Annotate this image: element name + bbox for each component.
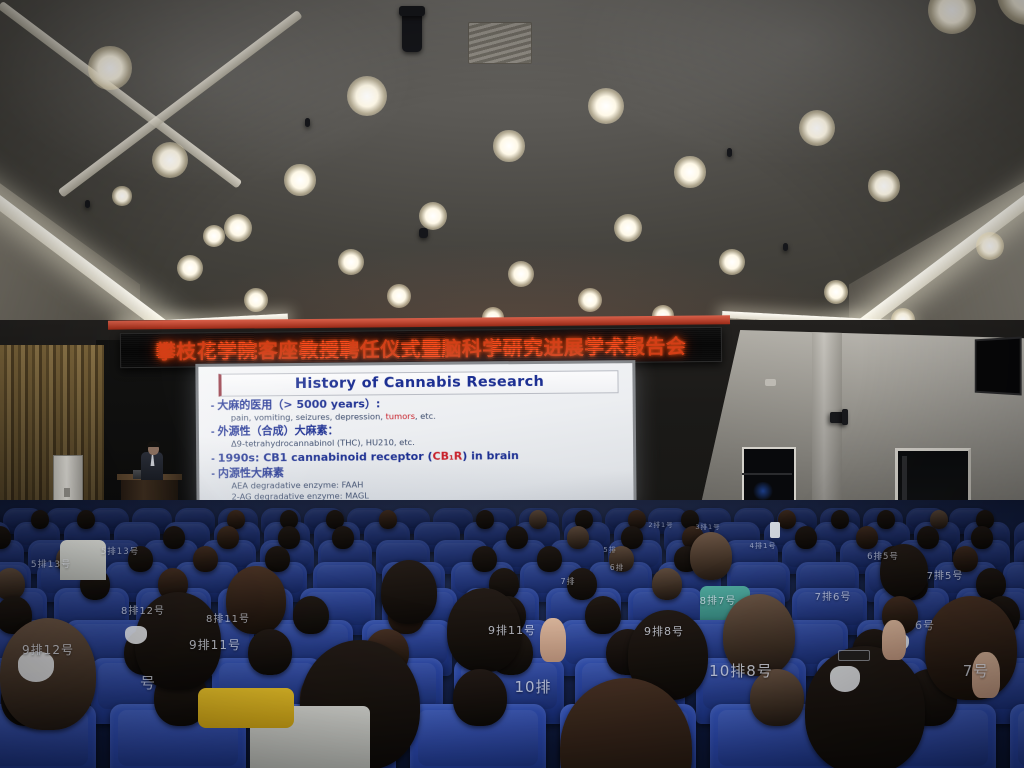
audience-member-head — [621, 526, 643, 549]
audience-member-head — [293, 596, 329, 634]
audience-member-head — [690, 532, 732, 580]
seat-number-label: 7排6号 — [806, 588, 860, 603]
audience-member-head — [805, 646, 925, 768]
audience-member-head — [925, 596, 1017, 700]
audience-member-head — [77, 510, 95, 529]
audience-member-head — [831, 510, 849, 529]
audience-member-head — [476, 510, 494, 529]
downlight-icon — [588, 88, 624, 124]
seat-number-label: 9排11号 — [474, 622, 550, 638]
seat-number-label: 6号 — [905, 617, 945, 633]
audience-member-head — [0, 568, 25, 600]
bullet-dash: - — [211, 426, 215, 438]
wall-monitor-icon — [975, 336, 1022, 395]
bullet-text-red: CB₁R — [432, 449, 462, 462]
downlight-icon — [578, 288, 602, 312]
audience-member-head — [917, 526, 939, 549]
audience-member-head — [778, 510, 796, 529]
seat-number-label: 8排7号 — [688, 592, 748, 607]
downlight-icon — [799, 110, 835, 146]
ac-vent-icon — [468, 22, 532, 64]
ceiling-sensor-b-icon — [727, 148, 732, 157]
audience-member-head — [31, 510, 49, 529]
downlight-icon — [387, 284, 411, 308]
audience-member-head — [585, 596, 621, 634]
audience-member-head — [537, 546, 562, 572]
lecture-hall-photo: 攀枝花学院客座教授聘任仪式暨脑科学研究进展学术报告会 History of Ca… — [0, 0, 1024, 768]
bullet-text: 内源性大麻素 — [218, 467, 284, 480]
seat-number-label: 6排5号 — [857, 550, 909, 562]
seat-number-label: 5排13号 — [20, 557, 82, 570]
audience-member-head — [971, 526, 993, 549]
ceiling-sensor-e-icon — [85, 200, 90, 208]
ceiling-sensor-d-icon — [783, 243, 788, 251]
audience-member-head — [381, 560, 437, 624]
raised-hand — [882, 620, 906, 660]
projection-screen: History of Cannabis Research - 大麻的医用（> 5… — [198, 363, 633, 514]
downlight-icon — [203, 225, 225, 247]
phone-icon — [770, 522, 780, 538]
slide-bullet-1-sub: pain, vomiting, seizures, depression, tu… — [231, 409, 623, 423]
sub-post: , etc. — [415, 410, 436, 420]
wall-sensor-icon — [765, 379, 776, 386]
bullet-text: 外源性（合成）大麻素： — [218, 425, 339, 439]
audience-member-head — [265, 546, 290, 572]
sub-red: tumors — [385, 411, 414, 421]
seat-number-label: 4排1号 — [742, 541, 784, 551]
downlight-icon — [868, 170, 899, 201]
audience-member-head — [976, 568, 1006, 600]
audience-seating: 2排1号3排1号4排1号5排6排7排8排7号9排8号10排8号10排9排11号9… — [0, 500, 1024, 768]
downlight-icon — [674, 156, 705, 187]
ceiling-projector-mount-icon — [399, 6, 425, 16]
slide-title-box: History of Cannabis Research — [218, 370, 618, 396]
wall-speaker-bracket-icon — [842, 409, 848, 425]
control-booth-mullion — [742, 473, 792, 475]
audience-member-head — [332, 526, 354, 549]
face-mask-icon — [830, 666, 860, 692]
bullet-dash: - — [211, 468, 215, 480]
ceiling-sensor-c-icon — [419, 228, 428, 238]
seat-number-label: 3排1号 — [688, 521, 728, 531]
control-booth-glow — [752, 482, 774, 500]
face-mask-icon — [125, 626, 147, 644]
seat-number-label: 5排13号 — [90, 545, 150, 557]
seat-number-label: 8排12号 — [108, 602, 178, 617]
sub-pre: AEA degradative enzyme: FAAH — [231, 479, 363, 490]
side-cabinet-latch-icon — [64, 488, 70, 497]
bullet-text: 1990s: CB1 cannabinoid receptor (CB₁R) i… — [218, 450, 519, 465]
audience-member-head — [379, 510, 397, 529]
seat-number-label: 9排11号 — [175, 636, 255, 653]
ceiling-sensor-a-icon — [305, 118, 310, 127]
audience-member-head — [217, 526, 239, 549]
auditorium-seat[interactable] — [1010, 704, 1024, 768]
slide-bullet-3: - 1990s: CB1 cannabinoid receptor (CB₁R)… — [211, 449, 623, 465]
slide-bullet-2-sub: Δ9-tetrahydrocannabinol (THC), HU210, et… — [231, 435, 623, 449]
audience-member-head — [163, 526, 185, 549]
audience-member-head — [652, 568, 682, 600]
audience-member-head — [856, 526, 878, 549]
seat-number-label: 9排8号 — [631, 623, 697, 639]
audience-member-head — [453, 669, 507, 726]
seat-number-label: 7排5号 — [916, 567, 974, 582]
downlight-icon — [112, 186, 131, 205]
downlight-icon — [493, 130, 524, 161]
slide-title: History of Cannabis Research — [295, 374, 544, 392]
presentation-slide: History of Cannabis Research - 大麻的医用（> 5… — [198, 363, 633, 514]
seat-number-label: 9排12号 — [8, 641, 88, 658]
seat-number-label: 号 — [134, 672, 162, 693]
speaker-hair — [147, 441, 160, 447]
audience-member-head — [529, 510, 547, 529]
yellow-scarf — [198, 688, 294, 728]
audience-member-head — [567, 526, 589, 549]
audience-member-head — [795, 526, 817, 549]
seat-number-label: 8排11号 — [192, 610, 264, 625]
downlight-icon — [152, 142, 188, 178]
downlight-icon — [284, 164, 315, 195]
eyeglasses-icon — [838, 650, 870, 661]
bullet-text-post: ) in brain — [462, 449, 519, 462]
audience-member-head — [278, 526, 300, 549]
downlight-icon — [244, 288, 268, 312]
bullet-dash: - — [211, 452, 215, 464]
sub-pre: pain, vomiting, seizures, depression, — [231, 411, 386, 422]
seat-number-label: 2排1号 — [641, 519, 681, 529]
seat-number-label: 6排 — [603, 562, 631, 573]
downlight-icon — [88, 46, 131, 89]
seat-number-label: 10排 — [500, 676, 566, 697]
ceiling — [0, 0, 1024, 345]
audience-member-head — [877, 510, 895, 529]
downlight-icon — [824, 280, 848, 304]
bullet-text-pre: 1990s: CB1 cannabinoid receptor ( — [218, 449, 433, 464]
seat-number-label: 10排8号 — [695, 660, 787, 681]
bullet-dash: - — [211, 400, 215, 412]
seat-number-label: 7号 — [952, 660, 1000, 681]
seat-number-label: 7排 — [553, 576, 583, 587]
audience-member-head — [193, 546, 218, 572]
seat-number-label: 5排 — [596, 545, 624, 555]
audience-member-head — [472, 546, 497, 572]
sub-pre: Δ9-tetrahydrocannabinol (THC), HU210, et… — [231, 437, 415, 449]
audience-member-head — [506, 526, 528, 549]
